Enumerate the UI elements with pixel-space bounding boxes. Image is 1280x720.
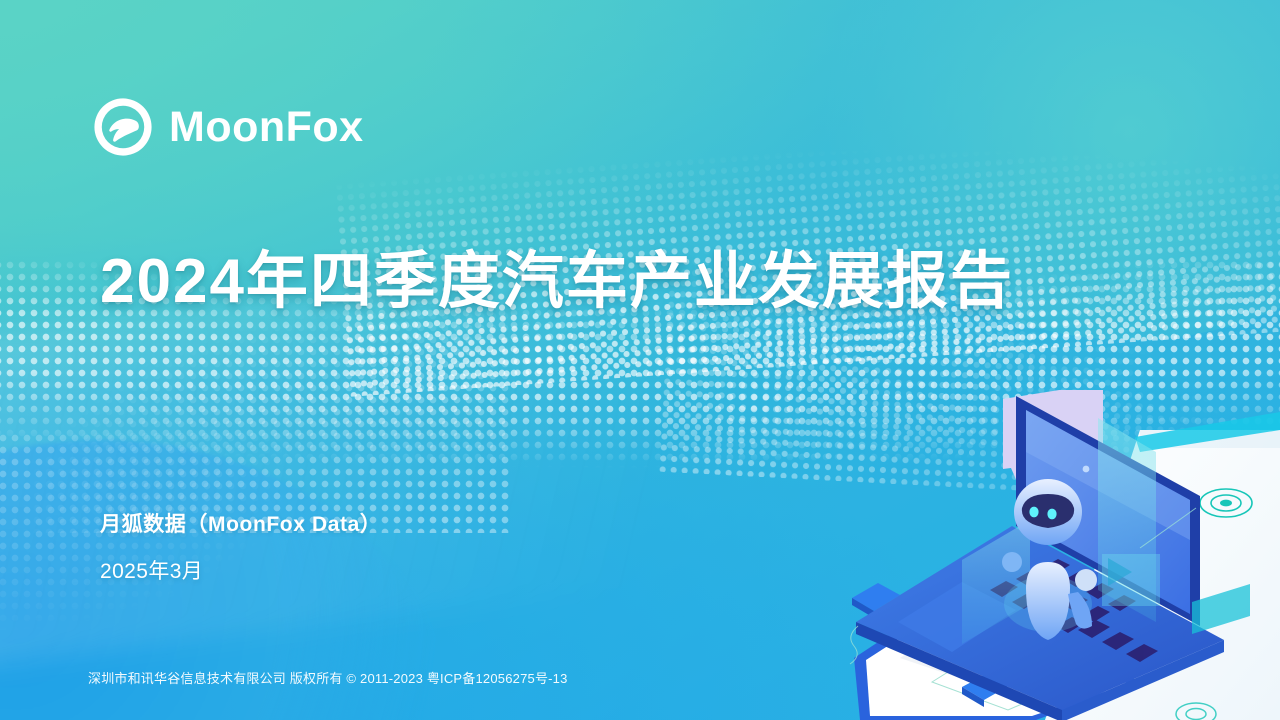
cover-meta: 月狐数据（MoonFox Data） 2025年3月: [100, 514, 381, 582]
brand-wordmark: MoonFox: [169, 106, 364, 149]
page-title: 2024年四季度汽车产业发展报告: [100, 247, 1014, 316]
isometric-laptop-robot-illustration: [840, 390, 1280, 720]
illustration-svg: [840, 390, 1280, 720]
report-cover-slide: MoonFox 2024年四季度汽车产业发展报告 月狐数据（MoonFox Da…: [0, 0, 1280, 720]
moonfox-circle-logo-icon: [92, 96, 154, 158]
publish-date-label: 2025年3月: [100, 561, 381, 582]
organization-label: 月狐数据（MoonFox Data）: [100, 514, 381, 535]
copyright-footer: 深圳市和讯华谷信息技术有限公司 版权所有 © 2011-2023 粤ICP备12…: [88, 668, 568, 687]
brand-logo: MoonFox: [92, 96, 364, 158]
